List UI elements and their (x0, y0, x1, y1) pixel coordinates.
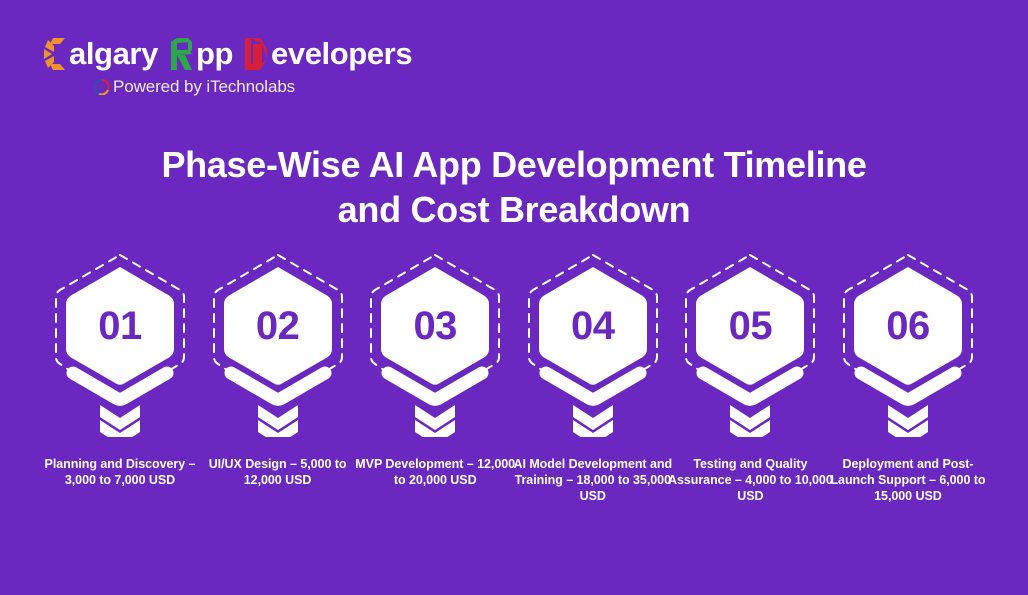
logo-letter-a-hex-icon (167, 37, 195, 71)
phase-badge[interactable]: 03 (365, 252, 505, 437)
chevron-arrows-icon (415, 405, 455, 437)
phase-label: Deployment and Post-Launch Support – 6,0… (822, 456, 994, 504)
phase-label: AI Model Development and Training – 18,0… (507, 456, 679, 504)
phase-label: Planning and Discovery – 3,000 to 7,000 … (34, 456, 206, 488)
infographic-canvas: algary pp (0, 0, 1028, 595)
phase-badge[interactable]: 05 (680, 252, 820, 437)
phase-number: 01 (50, 252, 190, 400)
logo-tagline-text: Powered by iTechnolabs (113, 78, 295, 96)
chevron-arrows-icon (730, 405, 770, 437)
phase-badge[interactable]: 02 (208, 252, 348, 437)
page-title-line-2: and Cost Breakdown (60, 187, 968, 232)
logo-wordmark: algary pp (40, 34, 460, 74)
logo-letter-c-hex-icon (40, 37, 68, 71)
phase-number: 06 (838, 252, 978, 400)
chevron-arrows-icon (100, 405, 140, 437)
phase-number: 04 (523, 252, 663, 400)
logo-text-evelopers: evelopers (271, 37, 412, 71)
phase-item[interactable]: 05 Testing and Quality Assurance – 4,000… (674, 252, 826, 504)
phase-item[interactable]: 06 Deployment and Post-Launch Support – … (832, 252, 984, 504)
phase-number: 05 (680, 252, 820, 400)
phase-item[interactable]: 01 Planning and Discovery – 3,000 to 7,0… (44, 252, 196, 488)
chevron-arrows-icon (888, 405, 928, 437)
page-title-line-1: Phase-Wise AI App Development Timeline (60, 142, 968, 187)
phase-number: 02 (208, 252, 348, 400)
chevron-arrows-icon (258, 405, 298, 437)
logo-text-pp: pp (196, 37, 233, 71)
chevron-arrows-icon (573, 405, 613, 437)
phase-badge[interactable]: 04 (523, 252, 663, 437)
logo-tagline: Powered by iTechnolabs (94, 78, 460, 96)
phase-badge[interactable]: 01 (50, 252, 190, 437)
logo-text-algary: algary (69, 37, 158, 71)
phase-label: UI/UX Design – 5,000 to 12,000 USD (192, 456, 364, 488)
itechnolabs-swirl-icon (94, 79, 110, 95)
phase-timeline: 01 Planning and Discovery – 3,000 to 7,0… (44, 252, 984, 504)
phase-badge[interactable]: 06 (838, 252, 978, 437)
phase-item[interactable]: 02 UI/UX Design – 5,000 to 12,000 USD (202, 252, 354, 488)
phase-item[interactable]: 04 AI Model Development and Training – 1… (517, 252, 669, 504)
logo-letter-d-hex-icon (242, 37, 270, 71)
phase-number: 03 (365, 252, 505, 400)
brand-logo: algary pp (40, 34, 460, 96)
phase-label: Testing and Quality Assurance – 4,000 to… (664, 456, 836, 504)
phase-item[interactable]: 03 MVP Development – 12,000 to 20,000 US… (359, 252, 511, 488)
page-title: Phase-Wise AI App Development Timeline a… (0, 142, 1028, 232)
phase-label: MVP Development – 12,000 to 20,000 USD (349, 456, 521, 488)
